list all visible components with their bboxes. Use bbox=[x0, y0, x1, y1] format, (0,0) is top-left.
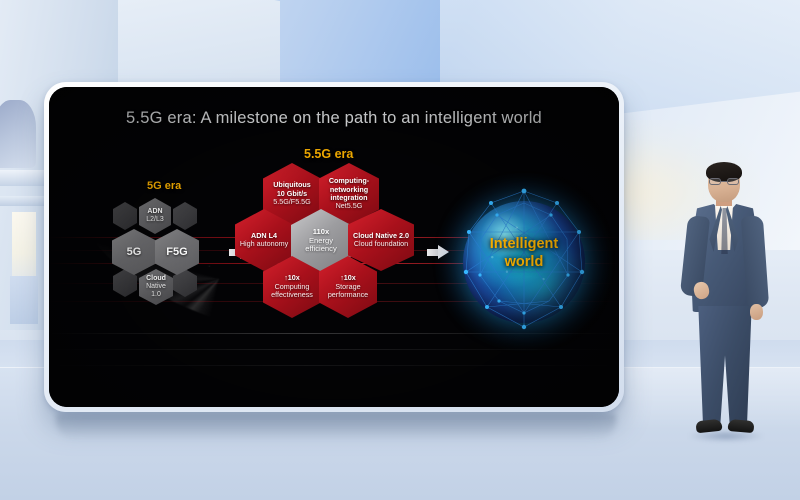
slide-title: 5.5G era: A milestone on the path to an … bbox=[49, 109, 619, 128]
hex-5g[interactable]: 5G bbox=[112, 229, 156, 275]
hex-adn-l2l3[interactable]: ADN L2/L3 bbox=[139, 198, 171, 234]
hex-cluster-55g-era: Ubiquitous 10 Gbit/s 5.5G/F5.5G Computin… bbox=[249, 163, 419, 343]
presenter-trousers bbox=[696, 306, 754, 424]
wall-panel-lower bbox=[10, 276, 38, 324]
hex-cloud1-line2: Native 1.0 bbox=[142, 283, 170, 300]
intelligent-world-globe[interactable]: Intelligent world bbox=[449, 187, 599, 337]
wall-niche-sculpture bbox=[0, 100, 36, 168]
hex-adnl4-line2: High autonomy bbox=[240, 240, 288, 248]
globe-label-line1: Intelligent bbox=[490, 236, 558, 252]
hex-cloud1-line1: Cloud bbox=[142, 275, 170, 283]
white-light-streak bbox=[49, 365, 619, 366]
display-screen-bezel: 5.5G era: A milestone on the path to an … bbox=[44, 82, 624, 412]
label-5g-era: 5G era bbox=[147, 180, 181, 192]
globe-label-line2: world bbox=[505, 254, 544, 270]
hex-ubiq-line3: 5.5G/F5.5G bbox=[273, 198, 311, 206]
hex-f5g[interactable]: F5G bbox=[155, 229, 199, 275]
hex-5g-label: 5G bbox=[124, 246, 145, 259]
label-55g-era: 5.5G era bbox=[304, 147, 353, 161]
presenter-glasses-icon bbox=[709, 178, 739, 185]
hex-ce-line3: effectiveness bbox=[271, 291, 313, 299]
globe-label: Intelligent world bbox=[449, 235, 599, 271]
hex-adn-line1: ADN bbox=[146, 208, 164, 216]
hex-energy-line2: Energy efficiency bbox=[294, 237, 348, 255]
hex-cni-line4: Net5.5G bbox=[329, 202, 369, 210]
hex-cn2-line2: Cloud foundation bbox=[353, 240, 409, 248]
hex-adn-line2: L2/L3 bbox=[146, 216, 164, 224]
presentation-scene: 5.5G era: A milestone on the path to an … bbox=[0, 0, 800, 500]
presenter-right-shoe bbox=[728, 419, 755, 433]
presenter-figure bbox=[668, 164, 780, 454]
hex-f5g-label: F5G bbox=[163, 246, 190, 259]
hex-sp-line3: performance bbox=[328, 291, 368, 299]
presentation-slide: 5.5G era: A milestone on the path to an … bbox=[49, 87, 619, 407]
hex-corner-top-right bbox=[173, 202, 197, 230]
presenter-right-hand bbox=[750, 304, 763, 320]
screen-floor-reflection bbox=[56, 414, 616, 440]
hex-cloud-native-1[interactable]: Cloud Native 1.0 bbox=[139, 269, 173, 305]
hex-corner-top-left bbox=[113, 202, 137, 230]
